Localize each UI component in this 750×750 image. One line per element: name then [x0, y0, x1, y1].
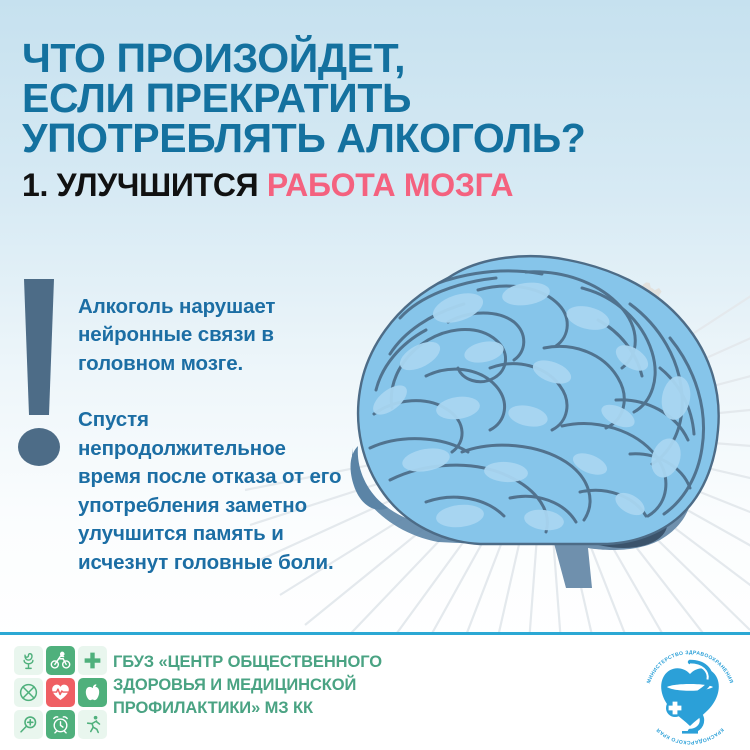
- headline-line-2: ЕСЛИ ПРЕКРАТИТЬ: [22, 78, 728, 118]
- exclamation-mark-icon: [18, 277, 66, 467]
- infographic-poster: ЧТО ПРОИЗОЙДЕТ, ЕСЛИ ПРЕКРАТИТЬ УПОТРЕБЛ…: [0, 0, 750, 750]
- organization-name: ГБУЗ «ЦЕНТР ОБЩЕСТВЕННОГО ЗДОРОВЬЯ И МЕД…: [113, 651, 443, 720]
- apple-icon: [78, 678, 107, 707]
- heart-pulse-icon: [46, 678, 75, 707]
- emblem-cross-badge: [666, 699, 684, 717]
- cyclist-icon: [46, 646, 75, 675]
- ministry-of-health-emblem: МИНИСТЕРСТВО ЗДРАВООХРАНЕНИЯ КРАСНОДАРСК…: [636, 640, 744, 748]
- brain-illustration: [330, 248, 750, 608]
- paragraph-2: Спустя непродолжительное время после отк…: [78, 406, 353, 577]
- emblem-stem: [682, 731, 698, 734]
- subheading-number: 1. УЛУЧШИТСЯ: [22, 167, 258, 203]
- runner-icon: [78, 710, 107, 739]
- alarm-clock-icon: [46, 710, 75, 739]
- bowl-of-hygieia-icon: [14, 646, 43, 675]
- health-icon-grid: [14, 646, 107, 739]
- headline-line-3: УПОТРЕБЛЯТЬ АЛКОГОЛЬ?: [22, 118, 728, 158]
- no-alcohol-ban-icon: [14, 678, 43, 707]
- medical-cross-icon: [78, 646, 107, 675]
- subheading-accent: РАБОТА МОЗГА: [267, 167, 513, 203]
- magnifier-plus-icon: [14, 710, 43, 739]
- headline-line-1: ЧТО ПРОИЗОЙДЕТ,: [22, 38, 728, 78]
- paragraph-1: Алкоголь нарушает нейронные связи в голо…: [78, 293, 353, 379]
- body-copy: Алкоголь нарушает нейронные связи в голо…: [78, 272, 353, 598]
- headline-block: ЧТО ПРОИЗОЙДЕТ, ЕСЛИ ПРЕКРАТИТЬ УПОТРЕБЛ…: [22, 38, 728, 202]
- subheading: 1. УЛУЧШИТСЯ РАБОТА МОЗГА: [22, 168, 728, 202]
